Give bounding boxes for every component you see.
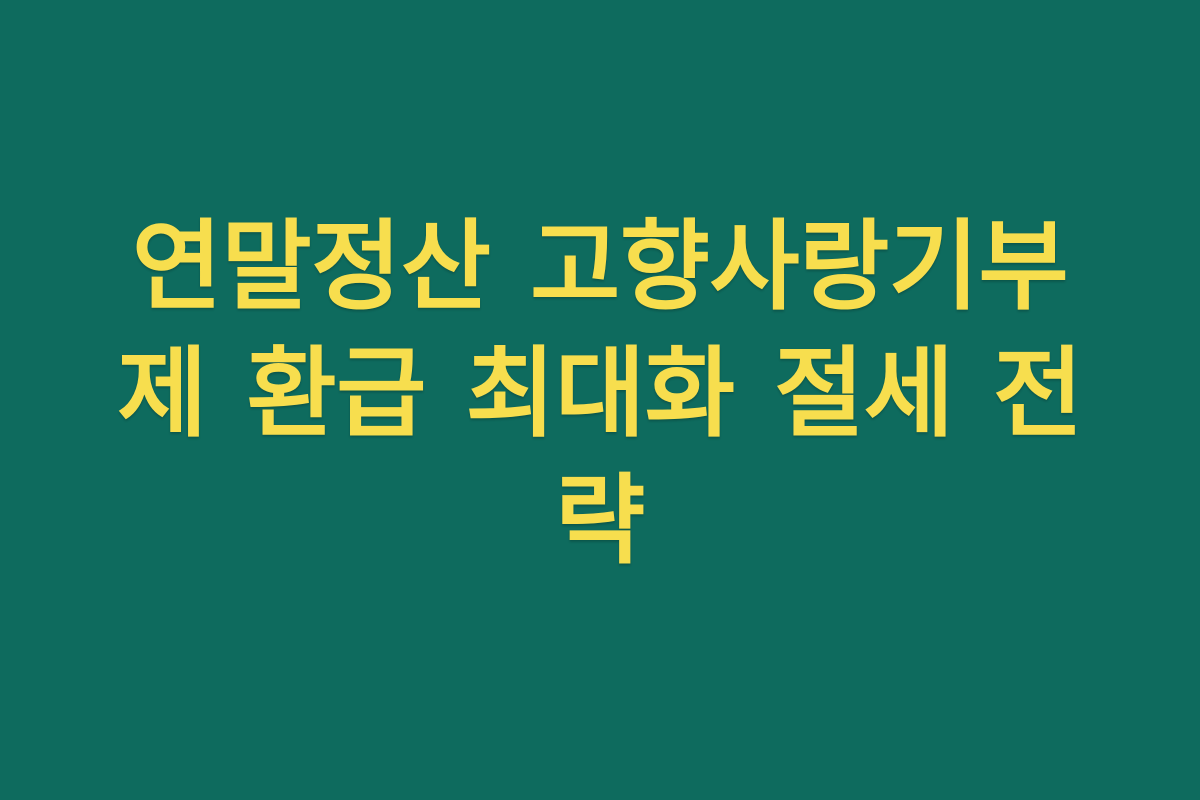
headline-text: 연말정산 고향사랑기부제 환급 최대화 절세 전략 [105,204,1095,585]
banner-canvas: 연말정산 고향사랑기부제 환급 최대화 절세 전략 [0,0,1200,800]
headline-container: 연말정산 고향사랑기부제 환급 최대화 절세 전략 [105,204,1095,585]
